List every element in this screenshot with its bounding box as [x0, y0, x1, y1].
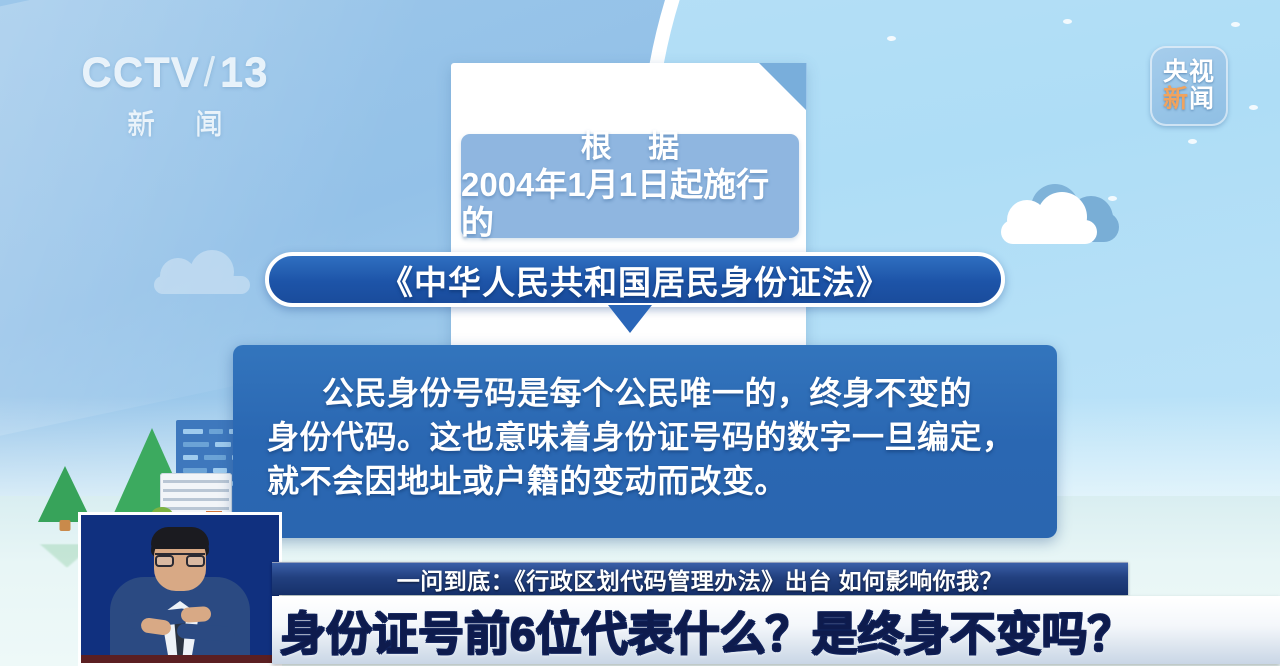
law-title-pill: 《中华人民共和国居民身份证法》 — [265, 252, 1005, 307]
program-subtitle-bar: 一问到底：《行政区划代码管理办法》出台 如何影响你我？ — [272, 562, 1128, 595]
interpreter-hair-top — [151, 527, 209, 549]
cloud-icon — [150, 250, 270, 294]
headline-text: 身份证号前6位代表什么？是终身不变吗？ — [272, 598, 1134, 664]
interpreter-desk — [81, 655, 279, 663]
quote-line-3: 就不会因地址或户籍的变动而改变。 — [267, 459, 1027, 503]
sparkle-icon — [1249, 105, 1258, 110]
legal-basis-line-2: 2004年1月1日起施行的 — [461, 166, 799, 242]
cctv-logo-subtitle: 新 闻 — [80, 102, 270, 142]
cctv-news-badge: 央视 新闻 — [1150, 46, 1228, 126]
quote-line-2: 身份代码。这也意味着身份证号码的数字一旦编定， — [267, 415, 1027, 459]
broadcast-screenshot: CCTV / 13 新 闻 央视 新闻 根 据 2004年1月1日起施行的 《中… — [0, 0, 1280, 666]
sparkle-icon — [1231, 22, 1240, 27]
headline-bar: 身份证号前6位代表什么？是终身不变吗？ — [272, 596, 1280, 664]
law-title-text: 《中华人民共和国居民身份证法》 — [380, 256, 890, 304]
cctv-logo-slash: / — [204, 50, 216, 95]
cctv-13-logo: CCTV / 13 新 闻 — [80, 48, 270, 144]
sparkle-icon — [1063, 19, 1072, 24]
sparkle-icon — [887, 36, 896, 41]
cctv-logo-number: 13 — [220, 48, 269, 96]
sparkle-icon — [1188, 139, 1197, 144]
legal-basis-box: 根 据 2004年1月1日起施行的 — [461, 134, 799, 238]
badge-line-top: 央视 — [1163, 59, 1215, 86]
badge-line-bottom-accent: 新 — [1163, 85, 1189, 113]
cctv-logo-text: CCTV — [81, 48, 199, 96]
callout-pointer-icon — [608, 305, 652, 333]
legal-basis-line-1: 根 据 — [567, 130, 694, 164]
glasses-icon — [155, 553, 205, 568]
badge-line-bottom: 闻 — [1189, 85, 1215, 113]
quote-line-1: 公民身份号码是每个公民唯一的，终身不变的 — [267, 371, 1027, 415]
quote-box: 公民身份号码是每个公民唯一的，终身不变的 身份代码。这也意味着身份证号码的数字一… — [233, 345, 1057, 538]
document-fold-corner-icon — [759, 63, 806, 110]
sign-language-interpreter-panel — [78, 512, 282, 666]
interpreter-hand-left — [181, 606, 212, 623]
cloud-icon — [993, 184, 1133, 246]
program-subtitle-text: 一问到底：《行政区划代码管理办法》出台 如何影响你我？ — [397, 562, 1003, 596]
